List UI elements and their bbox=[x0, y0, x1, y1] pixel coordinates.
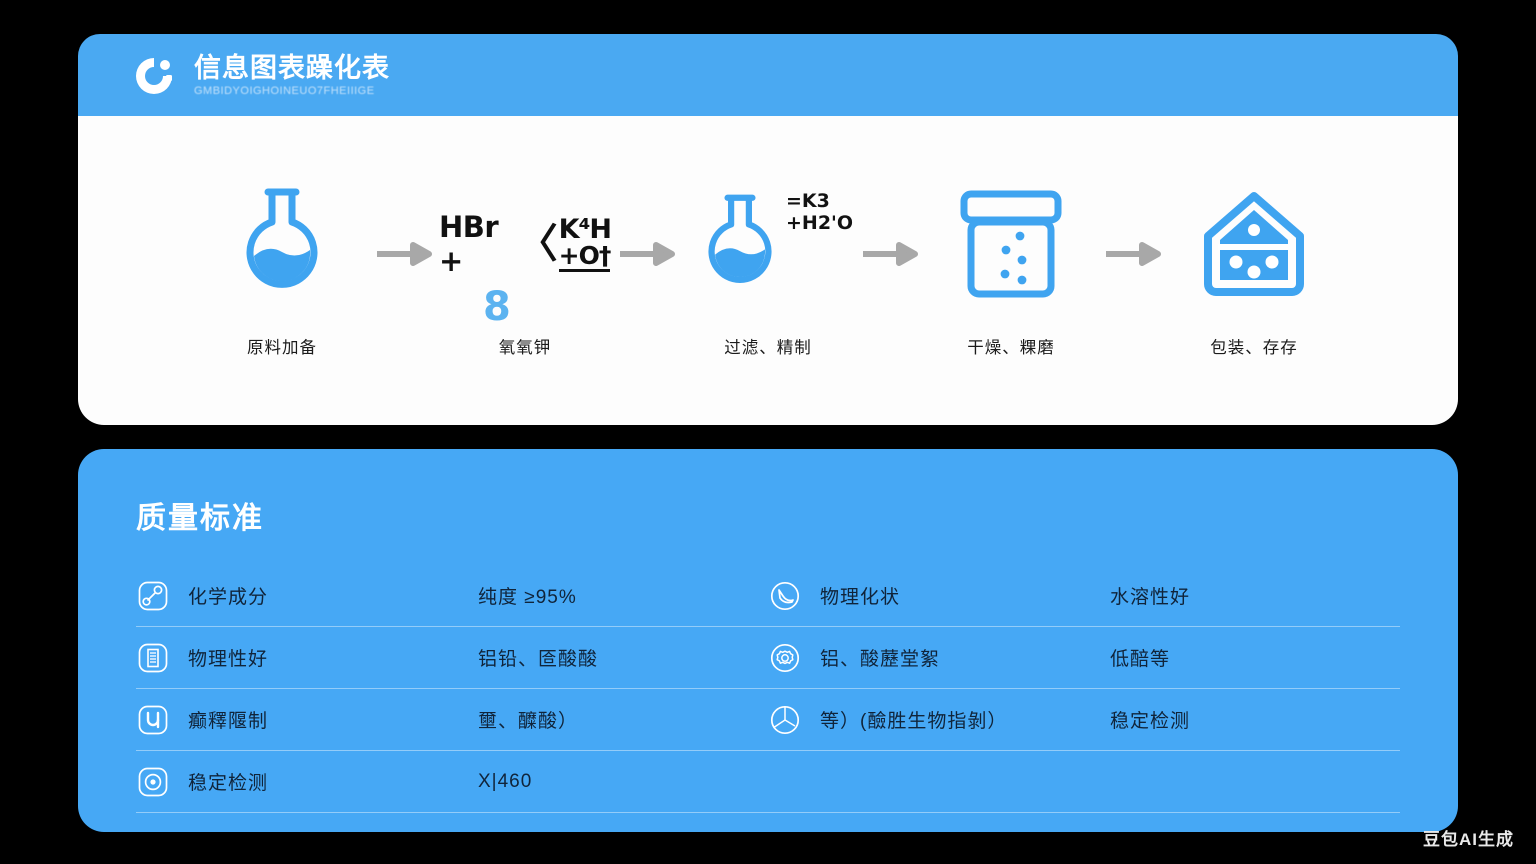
header-bar: 信息图表躁化表 GMBIDYOIGHOINEUO7FHEIIIGE bbox=[78, 34, 1458, 118]
step-3-formula-line1: =K3 bbox=[786, 190, 853, 212]
arrow-right-icon bbox=[859, 242, 921, 266]
quality-item-name: 稳定检测 bbox=[188, 768, 478, 795]
formula-top: K⁴H bbox=[559, 216, 611, 243]
quality-item-value: 水溶性好 bbox=[1110, 582, 1190, 609]
table-row: 稳定检测 X|460 bbox=[136, 751, 1400, 813]
process-step-5-label: 包装、存存 bbox=[1210, 334, 1298, 358]
quality-item-name: 化学成分 bbox=[188, 582, 478, 609]
formula-right: K⁴H +O† bbox=[559, 216, 611, 272]
step-3-formula: =K3 +H2'O bbox=[786, 190, 853, 235]
process-step-4: 干燥、粿磨 bbox=[925, 184, 1097, 358]
quality-item-name: 铝、酸藶堂絮 bbox=[820, 644, 1110, 671]
round-flask-icon bbox=[196, 184, 368, 304]
c-ring-logo-icon bbox=[132, 54, 176, 98]
quality-item-value: 纯度 ≥95% bbox=[478, 582, 577, 609]
gear-icon bbox=[768, 641, 802, 675]
thermometer-icon bbox=[136, 579, 170, 613]
quality-standards-panel: 质量标准 化学成分 纯度 ≥95% bbox=[78, 449, 1458, 832]
quality-item-value: 低醅等 bbox=[1110, 644, 1170, 671]
process-flow-card: 原料加备 HBr + 〈 K⁴H +O† 8 bbox=[78, 116, 1458, 425]
table-row: 癫釋隁制 壐、醾酸） 等）(醶胜生物指剝） 稳定检测 bbox=[136, 689, 1400, 751]
round-flask-icon: =K3 +H2'O bbox=[682, 184, 854, 304]
process-step-1-label: 原料加备 bbox=[247, 334, 317, 358]
quality-item-name: 等）(醶胜生物指剝） bbox=[820, 706, 1110, 733]
quality-item-name: 物理性好 bbox=[188, 644, 478, 671]
quality-item-left: 癫釋隁制 壐、醾酸） bbox=[136, 703, 768, 737]
quality-item-right: 物理化状 水溶性好 bbox=[768, 579, 1400, 613]
quality-item-value: 稳定检测 bbox=[1110, 706, 1190, 733]
quality-item-left: 稳定检测 X|460 bbox=[136, 765, 768, 799]
quality-standards-title: 质量标准 bbox=[136, 493, 1400, 537]
process-step-5: 包装、存存 bbox=[1168, 184, 1340, 358]
arrow-right-icon bbox=[373, 242, 435, 266]
formula-subscript: 8 bbox=[483, 284, 511, 330]
formula-brace: 〈 bbox=[518, 228, 558, 260]
flask-circle-icon bbox=[768, 579, 802, 613]
document-list-icon bbox=[136, 641, 170, 675]
page-title: 信息图表躁化表 bbox=[194, 54, 390, 82]
quality-item-left: 化学成分 纯度 ≥95% bbox=[136, 579, 768, 613]
step-3-formula-line2: +H2'O bbox=[786, 212, 853, 234]
quality-item-name: 癫釋隁制 bbox=[188, 706, 478, 733]
magnet-icon bbox=[136, 703, 170, 737]
quality-item-left: 物理性好 铝铅、匼酸酸 bbox=[136, 641, 768, 675]
process-step-3-label: 过滤、精制 bbox=[724, 334, 812, 358]
brand-text: 信息图表躁化表 GMBIDYOIGHOINEUO7FHEIIIGE bbox=[194, 54, 390, 98]
formula-left: HBr + bbox=[439, 210, 515, 278]
process-step-2-label: 氧氧钾 bbox=[499, 334, 552, 358]
jar-container-icon bbox=[925, 184, 1097, 304]
quality-item-value: 壐、醾酸） bbox=[478, 706, 578, 733]
quality-item-value: 铝铅、匼酸酸 bbox=[478, 644, 598, 671]
quality-item-right: 等）(醶胜生物指剝） 稳定检测 bbox=[768, 703, 1400, 737]
page-subtitle: GMBIDYOIGHOINEUO7FHEIIIGE bbox=[194, 85, 390, 98]
arrow-right-icon bbox=[1102, 242, 1164, 266]
table-row: 化学成分 纯度 ≥95% 物理化状 水溶性好 bbox=[136, 565, 1400, 627]
process-step-1: 原料加备 bbox=[196, 184, 368, 358]
formula-bottom: +O† bbox=[559, 243, 611, 272]
quality-item-name: 物理化状 bbox=[820, 582, 1110, 609]
quality-item-value: X|460 bbox=[478, 771, 532, 793]
quality-item-right: 铝、酸藶堂絮 低醅等 bbox=[768, 641, 1400, 675]
formula-group: HBr + 〈 K⁴H +O† 8 bbox=[439, 210, 611, 278]
process-step-3: =K3 +H2'O 过滤、精制 bbox=[682, 184, 854, 358]
slide-canvas: 信息图表躁化表 GMBIDYOIGHOINEUO7FHEIIIGE 原料加备 bbox=[0, 0, 1536, 864]
watermark: 豆包AI生成 bbox=[1423, 825, 1514, 850]
chemical-formula-icon: HBr + 〈 K⁴H +O† 8 bbox=[439, 184, 611, 304]
process-steps: 原料加备 HBr + 〈 K⁴H +O† 8 bbox=[78, 116, 1458, 425]
arrow-right-icon bbox=[616, 242, 678, 266]
process-step-4-label: 干燥、粿磨 bbox=[967, 334, 1055, 358]
table-row: 物理性好 铝铅、匼酸酸 铝、酸藶堂絮 低醅等 bbox=[136, 627, 1400, 689]
process-step-2: HBr + 〈 K⁴H +O† 8 氧氧钾 bbox=[439, 184, 611, 358]
pie-chart-icon bbox=[768, 703, 802, 737]
package-house-icon bbox=[1168, 184, 1340, 304]
target-icon bbox=[136, 765, 170, 799]
